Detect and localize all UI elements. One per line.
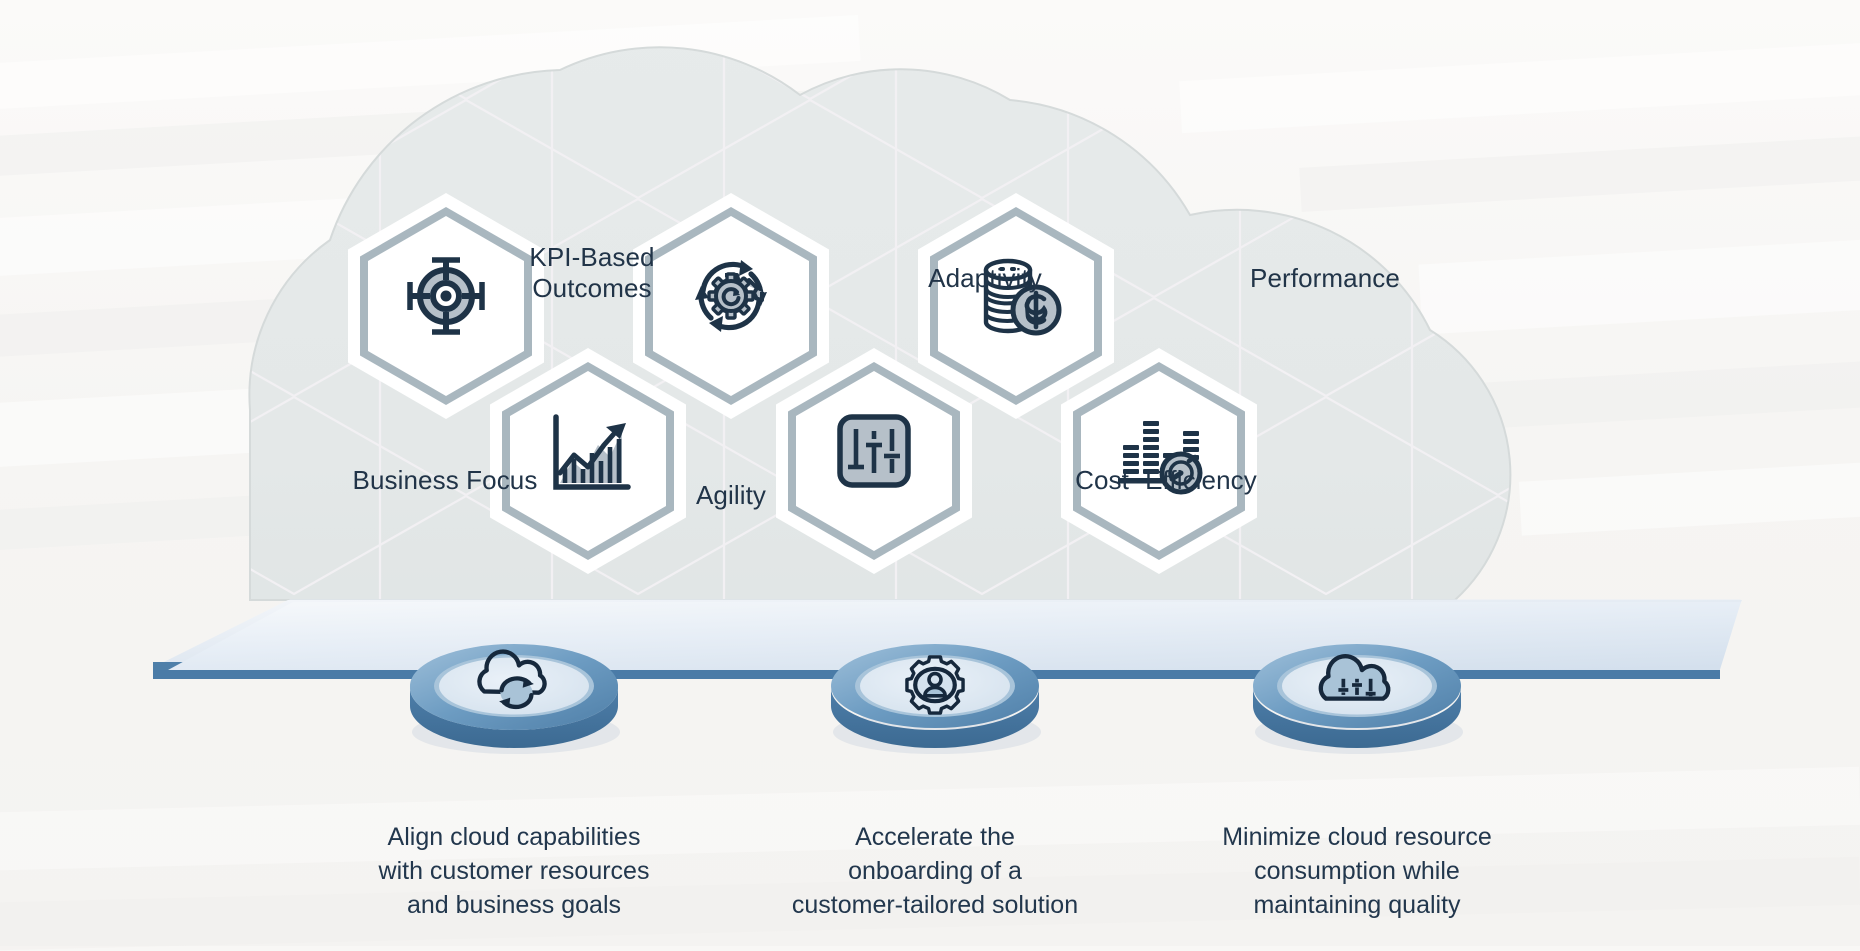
caption-onboarding: Accelerate the onboarding of a customer-… xyxy=(765,820,1105,922)
label-business-focus-line1: Business xyxy=(353,465,459,495)
caption-onboarding-line2: onboarding of a xyxy=(765,854,1105,888)
label-kpi-line1: KPI-Based xyxy=(529,242,654,272)
gear-cycle-icon xyxy=(681,246,781,346)
target-icon xyxy=(396,246,496,346)
label-kpi-line2: Outcomes xyxy=(532,273,651,303)
label-cost-efficiency: Cost- Efficiency xyxy=(1066,465,1266,496)
caption-onboarding-line1: Accelerate the xyxy=(765,820,1105,854)
caption-minimize-line2: consumption while xyxy=(1187,854,1527,888)
caption-minimize-line3: maintaining quality xyxy=(1187,888,1527,922)
infographic-canvas: Business Focus KPI-Based Outcomes Agilit… xyxy=(0,0,1860,946)
label-cost-line1: Cost- xyxy=(1075,465,1138,495)
label-performance-text: Performance xyxy=(1250,263,1400,293)
label-adaptivity-text: Adaptivity xyxy=(928,263,1042,293)
caption-align-line2: with customer resources xyxy=(344,854,684,888)
coins-dollar-icon xyxy=(966,246,1066,346)
caption-onboarding-line3: customer-tailored solution xyxy=(765,888,1105,922)
label-agility-text: Agility xyxy=(696,480,766,510)
caption-align-line3: and business goals xyxy=(344,888,684,922)
label-business-focus-line2: Focus xyxy=(466,465,537,495)
label-agility: Agility xyxy=(631,480,831,511)
label-performance: Performance xyxy=(1200,263,1450,294)
label-adaptivity: Adaptivity xyxy=(875,263,1095,294)
disc-align[interactable] xyxy=(404,628,624,758)
caption-align: Align cloud capabilities with customer r… xyxy=(344,820,684,922)
bar-chart-growth-icon xyxy=(538,401,638,501)
disc-minimize[interactable] xyxy=(1247,628,1467,758)
label-kpi-based-outcomes: KPI-Based Outcomes xyxy=(492,242,692,304)
label-cost-line2: Efficiency xyxy=(1145,465,1257,495)
label-business-focus: Business Focus xyxy=(345,465,545,496)
sliders-icon xyxy=(824,401,924,501)
caption-minimize: Minimize cloud resource consumption whil… xyxy=(1187,820,1527,922)
caption-minimize-line1: Minimize cloud resource xyxy=(1187,820,1527,854)
disc-onboarding[interactable] xyxy=(825,628,1045,758)
caption-align-line1: Align cloud capabilities xyxy=(344,820,684,854)
